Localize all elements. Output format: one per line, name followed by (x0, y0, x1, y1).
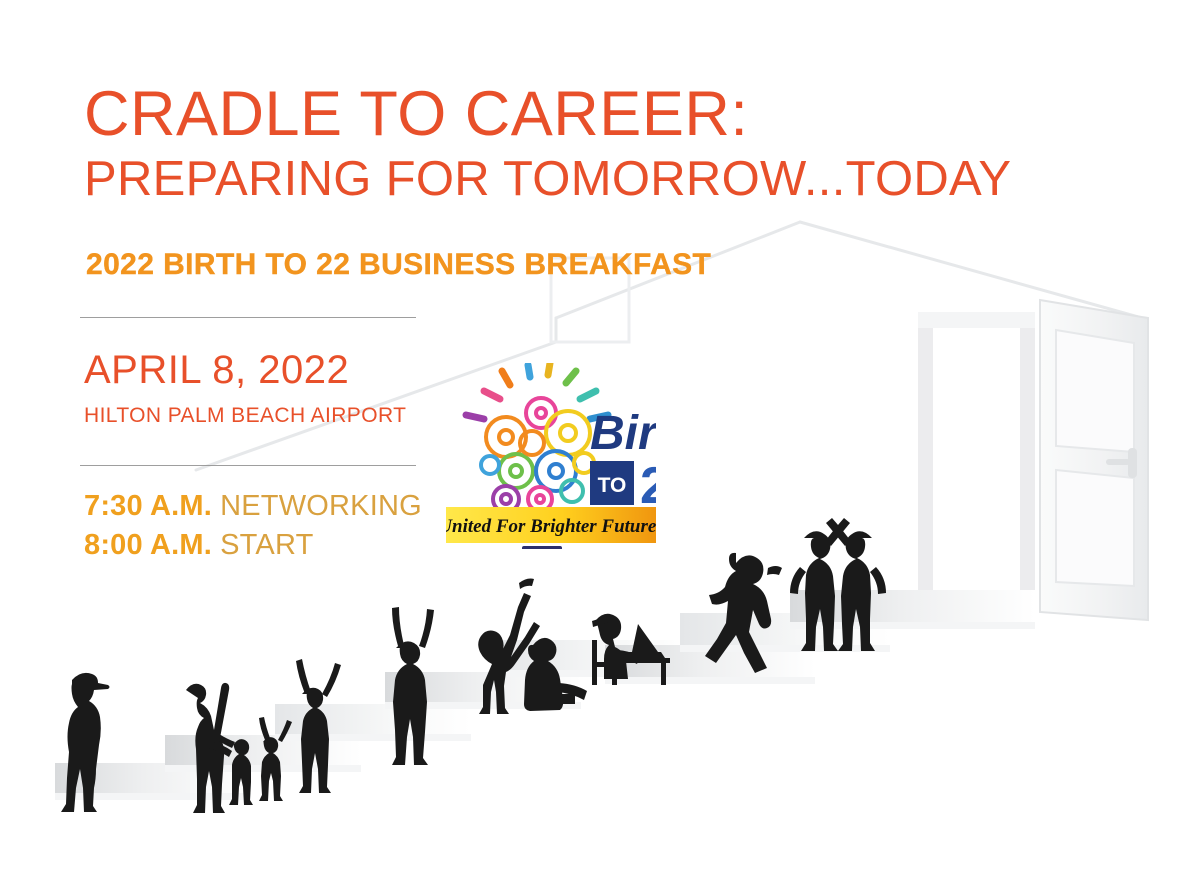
event-date: APRIL 8, 2022 (84, 348, 349, 393)
logo-word-to: TO (598, 474, 627, 497)
flyer-canvas: CRADLE TO CAREER: PREPARING FOR TOMORROW… (0, 0, 1200, 882)
schedule-label: NETWORKING (220, 490, 422, 522)
schedule-time: 7:30 A.M. (84, 490, 212, 522)
schedule-label: START (220, 529, 313, 561)
step-3 (275, 704, 471, 741)
step-1 (55, 763, 251, 800)
schedule-row: 7:30 A.M. NETWORKING (84, 487, 422, 526)
schedule-block: 7:30 A.M. NETWORKING 8:00 A.M. START (84, 487, 422, 564)
event-subtitle: 2022 BIRTH TO 22 BUSINESS BREAKFAST (86, 248, 711, 282)
figure-child-jumping-arms-up (392, 607, 434, 765)
figure-adult-with-toddler-hand (186, 683, 232, 813)
gear-cluster (481, 398, 594, 512)
figure-running-teen (705, 553, 782, 673)
step-6 (605, 645, 815, 684)
title-line-2: PREPARING FOR TOMORROW...TODAY (84, 152, 1124, 207)
logo-tagline-text: United For Brighter Futures (446, 516, 656, 537)
title-line-1: CRADLE TO CAREER: (84, 82, 1124, 146)
staircase (55, 590, 1035, 800)
step-5 (495, 640, 691, 677)
figure-high-five-left (790, 518, 850, 651)
event-venue: HILTON PALM BEACH AIRPORT (84, 404, 406, 428)
step-8-landing (790, 590, 1035, 629)
open-white-door (918, 300, 1148, 620)
headline-block: CRADLE TO CAREER: PREPARING FOR TOMORROW… (84, 82, 1124, 207)
schedule-time: 8:00 A.M. (84, 529, 212, 561)
schedule-row: 8:00 A.M. START (84, 526, 422, 565)
figure-toddler (216, 734, 253, 805)
divider-middle (80, 465, 416, 466)
logo-word-birth: Birth (590, 407, 656, 460)
figure-child-arms-up-celebrating (296, 659, 341, 793)
door-handle (1106, 448, 1137, 478)
logo-tagline-banner: United For Brighter Futures (446, 507, 656, 543)
figure-cartwheeling-youth (478, 579, 540, 715)
figure-small-child-arms-raised (259, 717, 292, 801)
figure-standing-adult-with-cap (61, 673, 110, 812)
figure-high-five-right (826, 518, 886, 651)
step-7 (680, 613, 890, 652)
figure-seated-child-reading (524, 638, 587, 711)
step-4 (385, 672, 581, 709)
step-2 (165, 735, 361, 772)
figure-student-at-laptop-desk (592, 614, 670, 685)
divider-top (80, 317, 416, 318)
